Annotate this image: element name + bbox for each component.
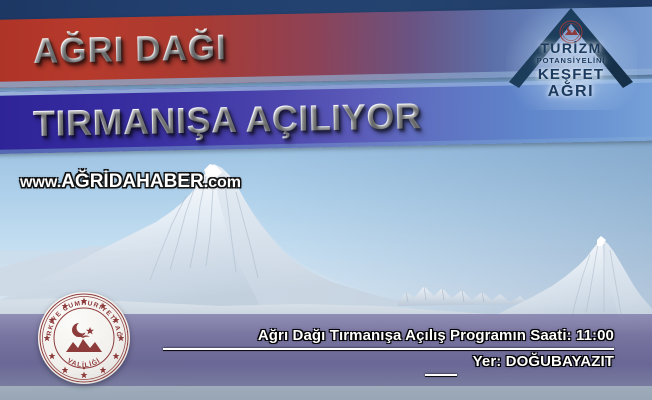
seal-bottom-dot [83, 367, 86, 370]
news-banner-poster: AĞRI DAĞI TIRMANIŞA AÇILIYOR TURİZM [0, 0, 652, 400]
info-line-1: Ağrı Dağı Tırmanışa Açılış Programın Saa… [258, 327, 614, 344]
watermark-suffix: .com [204, 174, 241, 191]
governorship-seal: TÜRKİYE CUMHURİYETİ AĞRI VALİLİĞİ [38, 292, 130, 384]
watermark-prefix: www. [20, 174, 61, 191]
seal-artwork: TÜRKİYE CUMHURİYETİ AĞRI VALİLİĞİ [38, 292, 130, 384]
info-line-2-underline [425, 374, 457, 376]
logo-line-4: AĞRI [505, 83, 637, 101]
crescent-star-icon [72, 323, 94, 337]
logo-line-1: TURİZM [505, 40, 637, 56]
headline-line-1: AĞRI DAĞI [33, 28, 227, 72]
mountain-range-icon [66, 339, 102, 352]
headline-line-2: TIRMANIŞA AÇILIYOR [33, 95, 422, 145]
site-watermark: www.AĞRİDAHABER.com [20, 171, 241, 193]
info-line-2: Yer: DOĞUBAYAZIT [473, 353, 614, 370]
info-line-1-underline [163, 348, 614, 350]
logo-line-2: POTANSİYELİNİ [505, 56, 637, 65]
tourism-logo: TURİZM POTANSİYELİNİ KEŞFET AĞRI [505, 2, 637, 110]
logo-line-3: KEŞFET [505, 66, 637, 83]
watermark-brand: AĞRİDAHABER [61, 171, 204, 192]
